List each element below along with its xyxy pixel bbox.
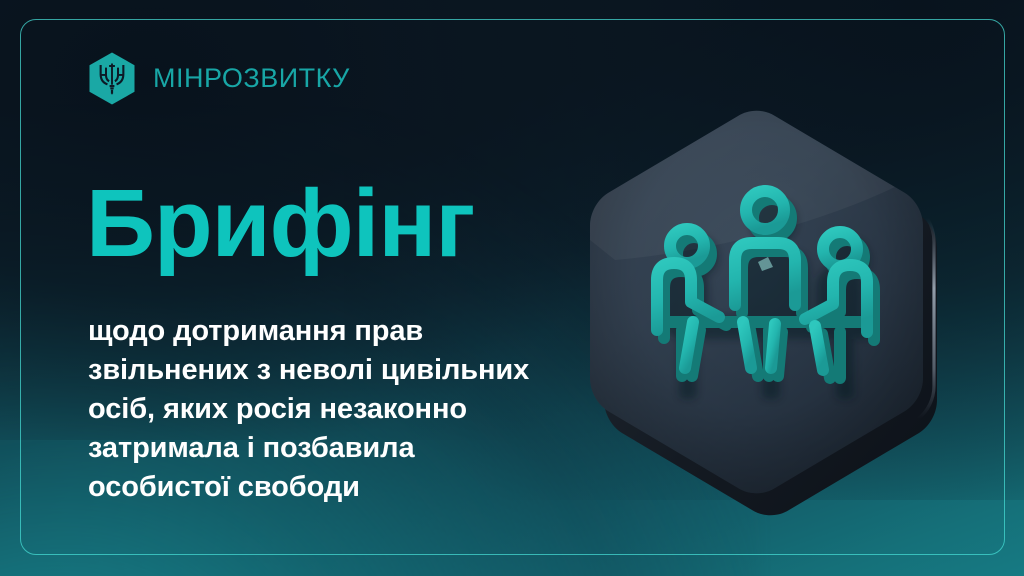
brand-logo-text: МІНРОЗВИТКУ: [153, 65, 350, 92]
meeting-badge: [575, 100, 955, 500]
page-subtitle: щодо дотримання прав звільнених з неволі…: [88, 312, 558, 507]
page-title: Брифінг: [86, 176, 474, 272]
ukraine-tryzub-hexagon-icon: [88, 52, 136, 105]
brand-logo: МІНРОЗВИТКУ: [88, 52, 350, 105]
briefing-announcement-slide: МІНРОЗВИТКУ Брифінг щодо дотримання прав…: [0, 0, 1024, 576]
